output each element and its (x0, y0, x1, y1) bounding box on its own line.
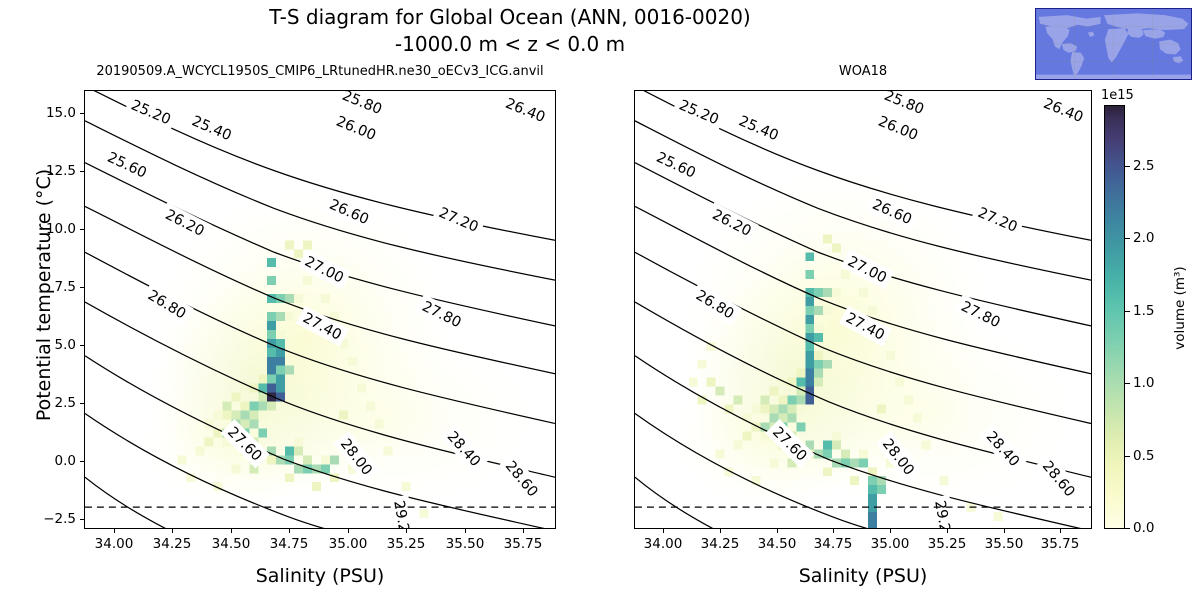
y-tick (80, 287, 84, 288)
x-tick (523, 529, 524, 533)
x-tick (231, 529, 232, 533)
figure-suptitle: T-S diagram for Global Ocean (ANN, 0016-… (0, 4, 1020, 58)
x-tick (947, 529, 948, 533)
colorbar-tick (1125, 311, 1130, 312)
colorbar-tick-label: 1.5 (1133, 303, 1154, 319)
x-tick (1004, 529, 1005, 533)
x-tick-label: 35.75 (487, 536, 559, 552)
colorbar-tick-label: 0.5 (1133, 448, 1154, 464)
x-tick (289, 529, 290, 533)
x-tick (348, 529, 349, 533)
colorbar-tick-label: 2.0 (1133, 230, 1154, 246)
x-tick (406, 529, 407, 533)
suptitle-line-1: T-S diagram for Global Ocean (ANN, 0016-… (0, 4, 1020, 31)
colorbar-tick (1125, 166, 1130, 167)
plot-area-model: 25.20 25.40 25.60 25.80 26.00 26.20 (84, 90, 556, 529)
y-tick (80, 345, 84, 346)
x-tick (777, 529, 778, 533)
suptitle-line-2: -1000.0 m < z < 0.0 m (0, 31, 1020, 58)
y-tick (80, 519, 84, 520)
x-axis-label-obs: Salinity (PSU) (634, 565, 1092, 587)
x-tick (720, 529, 721, 533)
x-axis-label-model: Salinity (PSU) (84, 565, 556, 587)
ts-diagram-figure: T-S diagram for Global Ocean (ANN, 0016-… (0, 0, 1200, 600)
y-tick (80, 171, 84, 172)
ts-plot-obs: 25.20 25.40 25.60 25.80 26.00 26.20 (635, 91, 1091, 528)
y-axis-label: Potential temperature (°C) (33, 85, 55, 505)
x-tick-label: 35.75 (1024, 536, 1096, 552)
panel-title-model: 20190509.A_WCYCL1950S_CMIP6_LRtunedHR.ne… (84, 64, 556, 79)
x-tick (114, 529, 115, 533)
colorbar-tick-label: 1.0 (1133, 375, 1154, 391)
y-tick (80, 461, 84, 462)
colorbar-tick (1125, 238, 1130, 239)
colorbar-tick (1125, 456, 1130, 457)
y-tick (80, 113, 84, 114)
y-tick (80, 229, 84, 230)
colorbar-tick-label: 2.5 (1133, 158, 1154, 174)
x-tick (1060, 529, 1061, 533)
colorbar-label: volume (m³) (1172, 188, 1188, 428)
colorbar-tick-label: 0.0 (1133, 520, 1154, 536)
plot-area-obs: 25.20 25.40 25.60 25.80 26.00 26.20 (634, 90, 1092, 529)
y-tick (80, 403, 84, 404)
colorbar-offset-text: 1e15 (1101, 88, 1134, 103)
x-tick (833, 529, 834, 533)
colorbar (1104, 105, 1125, 529)
colorbar-tick (1125, 383, 1130, 384)
panel-title-obs: WOA18 (634, 64, 1092, 79)
ts-plot-model: 25.20 25.40 25.60 25.80 26.00 26.20 (85, 91, 555, 528)
x-tick (890, 529, 891, 533)
colorbar-tick (1125, 528, 1130, 529)
x-tick (465, 529, 466, 533)
x-tick (172, 529, 173, 533)
x-tick (663, 529, 664, 533)
y-tick-label: −2.5 (8, 511, 76, 527)
